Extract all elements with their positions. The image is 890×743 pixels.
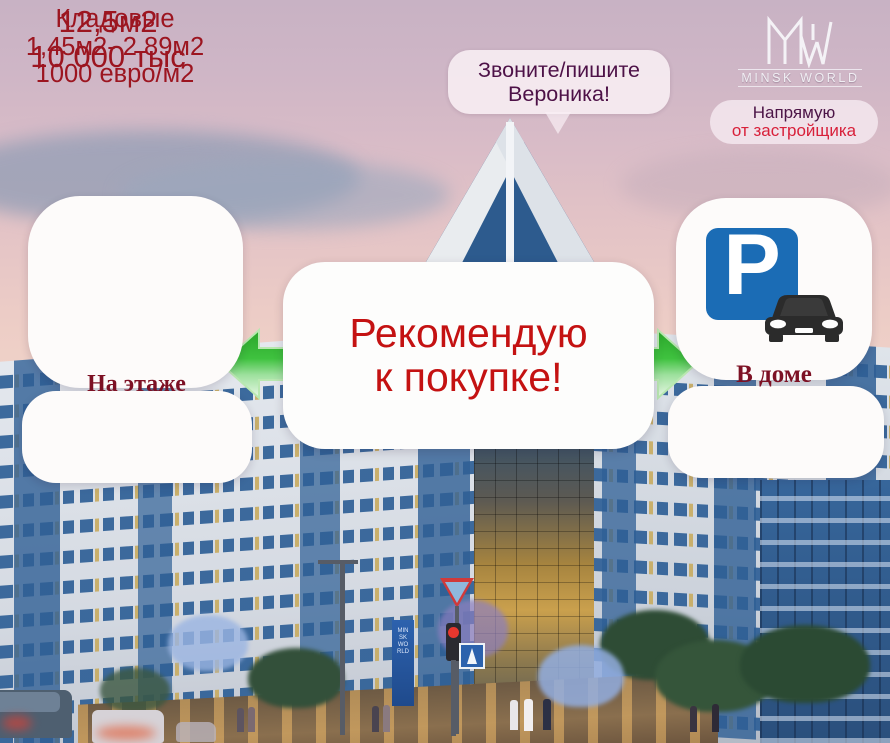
storage-card-caption: На этаже [24,371,249,398]
pedestrian [237,708,244,732]
contact-bubble-text: Звоните/пишите Вероника! [478,58,640,106]
brand-logo[interactable]: MINSK WORLD [720,14,880,94]
site-banner-flag-text: MINSK WORLD [396,628,410,656]
pedestrian [712,704,719,732]
traffic-light-pole [451,660,456,736]
storage-room-card[interactable] [28,196,243,388]
advertisement-canvas: MINSK WORLD Звоните/пишите Вероника! MIN… [0,0,890,743]
pedestrian [690,706,697,732]
pedestrian [524,699,533,731]
car-window [0,692,60,712]
pedestrian [248,707,255,732]
recommendation-banner[interactable]: Рекомендую к покупке! [283,262,654,449]
pedestrian [510,700,518,730]
pedestrian-glyph [461,645,483,667]
pedestrian [543,699,551,730]
brand-name: MINSK WORLD [738,69,861,87]
pedestrian-crossing-sign-icon [459,643,485,669]
right-side-block-windows [760,480,890,743]
contact-bubble[interactable]: Звоните/пишите Вероника! [448,50,670,114]
tree-blossom [168,615,248,671]
tree [248,648,344,708]
street-lamp-pole [340,560,345,735]
street-lamp-arm [318,560,358,564]
tree [100,668,170,712]
pedestrian [383,705,390,732]
recommendation-banner-text: Рекомендую к покупке! [349,312,587,399]
storage-card-details-panel[interactable] [22,391,252,483]
mw-monogram-icon [763,14,837,68]
parking-card-caption: В доме [676,361,872,389]
tree [740,625,870,703]
yield-sign-inner [445,582,469,603]
direct-from-developer-badge[interactable]: Напрямую от застройщика [710,100,878,144]
contact-bubble-tail [545,112,571,134]
pedestrian [372,706,379,732]
badge-line-1: Напрямую [753,104,836,122]
parking-card-details-panel[interactable] [668,386,884,478]
traffic-light-red-lamp [448,627,459,638]
car-taillight-glow [2,716,32,730]
car-front-icon [760,290,848,344]
car-taillight-glow [96,726,156,740]
car [176,722,216,742]
badge-line-2: от застройщика [732,122,856,140]
parking-card-details-text: 12,5м2 10 000 тыс [0,5,216,74]
tree-blossom [538,645,624,707]
